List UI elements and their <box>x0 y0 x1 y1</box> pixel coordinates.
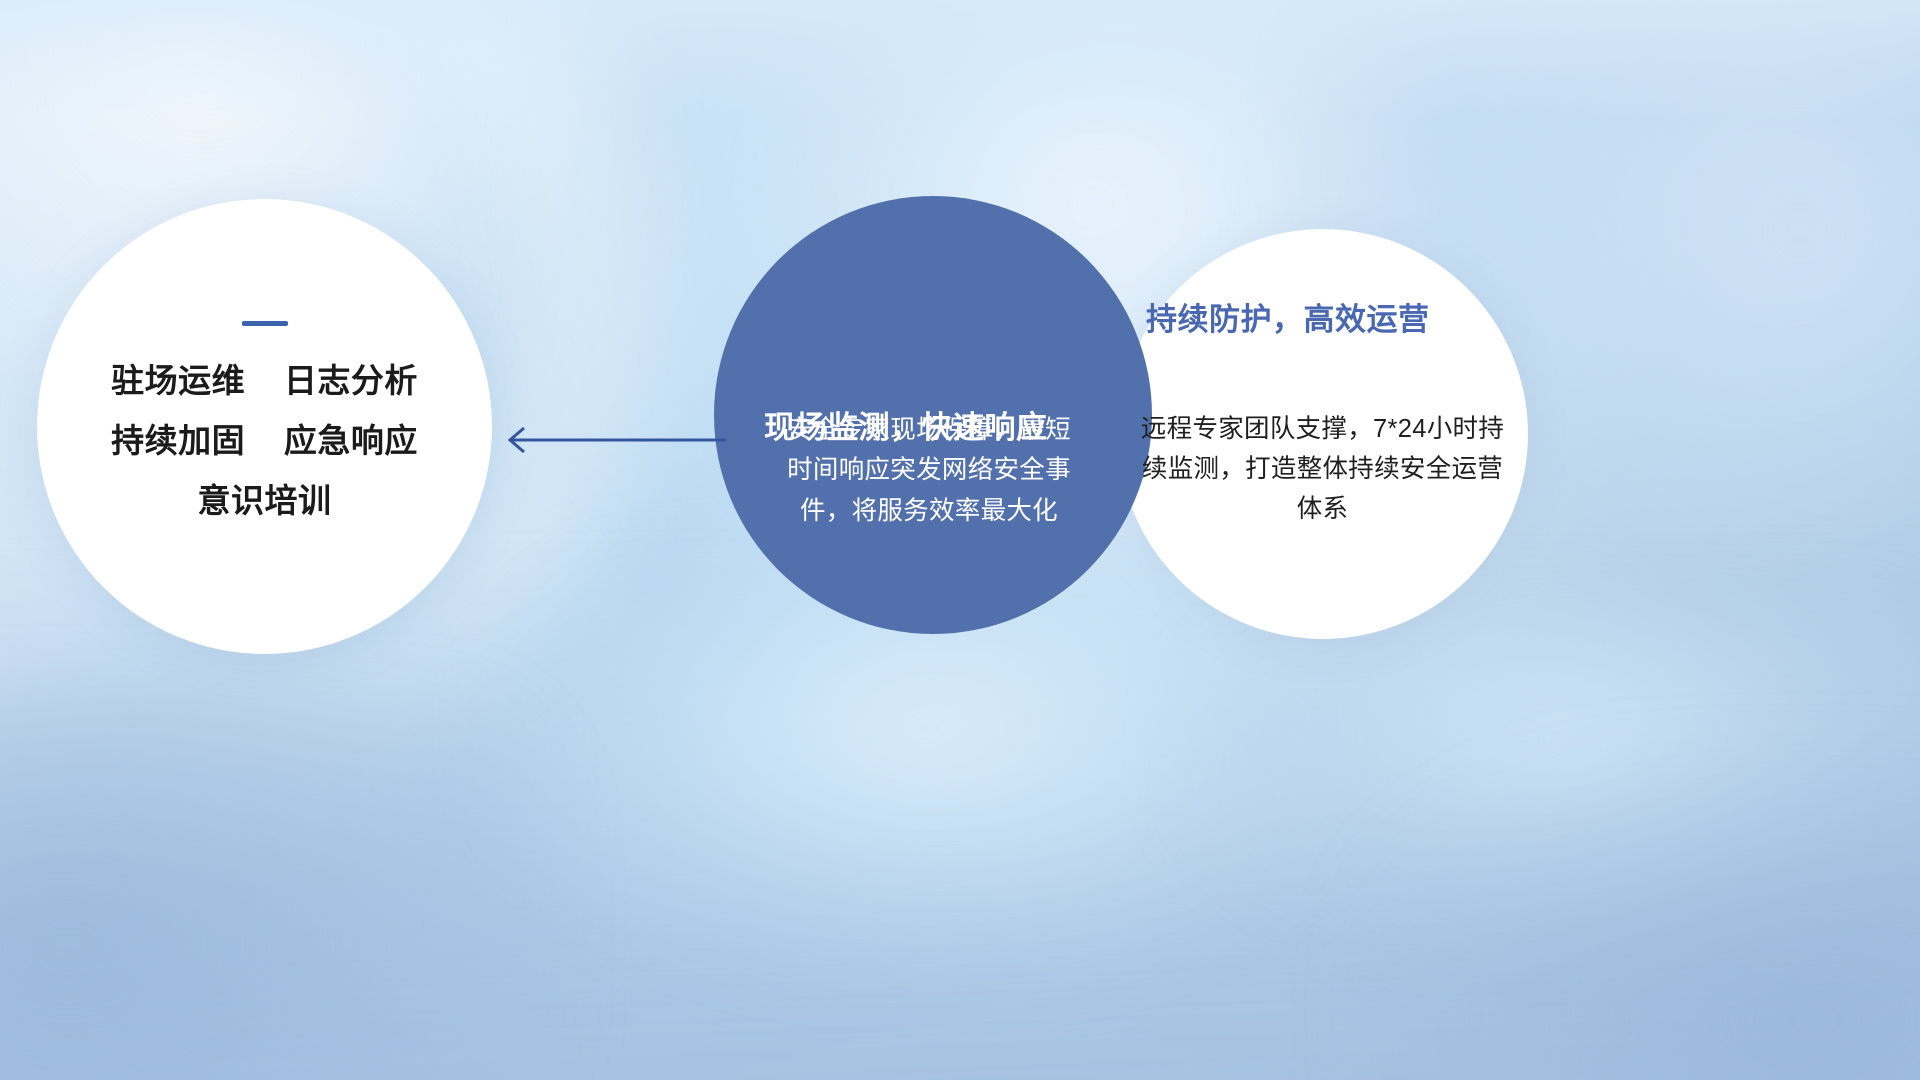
arrow-left-icon <box>490 418 726 462</box>
background-corner-bottom-left <box>0 700 560 1080</box>
blue-circle-content: 现场监测，快速响应 安全专家现场保障，最短时间响应突发网络安全事件，将服务效率最… <box>714 196 1152 634</box>
background-corner-bottom-right <box>1360 760 1920 1080</box>
right-circle-title: 持续防护，高效运营 <box>1146 294 1430 339</box>
background-top-highlight <box>0 0 1920 120</box>
capability-circle-left: 驻场运维 日志分析 持续加固 应急响应 意识培训 <box>37 199 492 654</box>
capability-line-2: 持续加固 应急响应 <box>37 424 492 457</box>
divider-dash <box>242 321 288 326</box>
right-circle-body: 远程专家团队支撑，7*24小时持续监测，打造整体持续安全运营体系 <box>1130 410 1515 529</box>
capability-list: 驻场运维 日志分析 持续加固 应急响应 意识培训 <box>37 364 492 517</box>
capability-circle-blue: 现场监测，快速响应 安全专家现场保障，最短时间响应突发网络安全事件，将服务效率最… <box>714 196 1152 634</box>
blue-circle-body: 安全专家现场保障，最短时间响应突发网络安全事件，将服务效率最大化 <box>776 410 1082 531</box>
capability-line-1: 驻场运维 日志分析 <box>37 364 492 397</box>
capability-line-3: 意识培训 <box>37 484 492 517</box>
